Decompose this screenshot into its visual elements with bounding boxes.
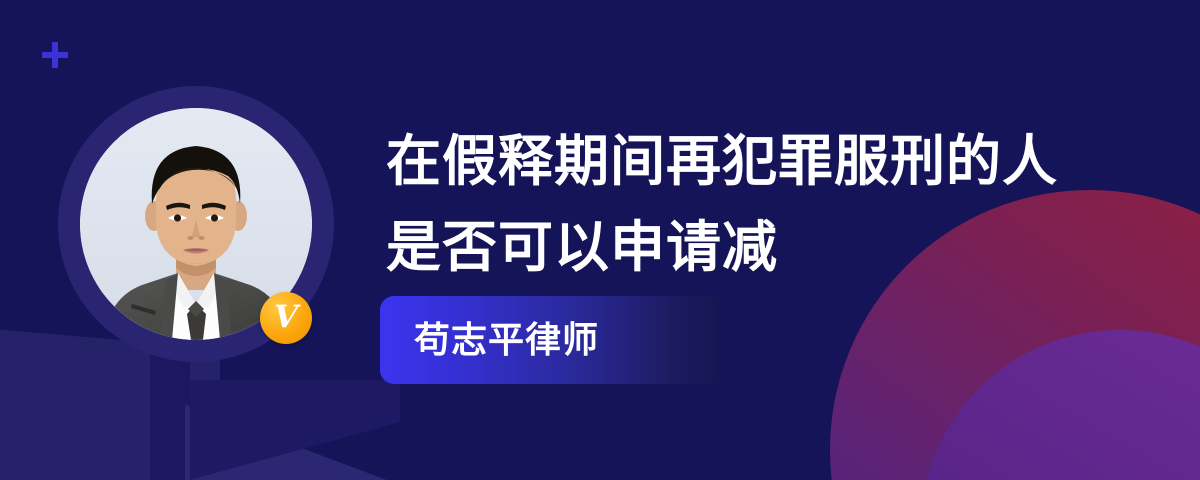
lawyer-name-badge[interactable]: 苟志平律师	[380, 296, 718, 384]
page-title: 在假释期间再犯罪服刑的人是否可以申请减	[386, 118, 1076, 290]
content-column: 在假释期间再犯罪服刑的人是否可以申请减	[386, 118, 1176, 290]
avatar[interactable]: V	[58, 86, 334, 362]
plus-icon	[42, 42, 68, 68]
decorative-gradient-circle-inner	[920, 330, 1200, 480]
decorative-triangle	[185, 400, 400, 480]
lawyer-qa-banner: V 在假释期间再犯罪服刑的人是否可以申请减 苟志平律师	[0, 0, 1200, 480]
verified-badge-icon: V	[260, 292, 312, 344]
verified-badge-label: V	[274, 302, 298, 333]
lawyer-name-label: 苟志平律师	[414, 322, 599, 358]
decorative-wedge	[190, 380, 400, 480]
